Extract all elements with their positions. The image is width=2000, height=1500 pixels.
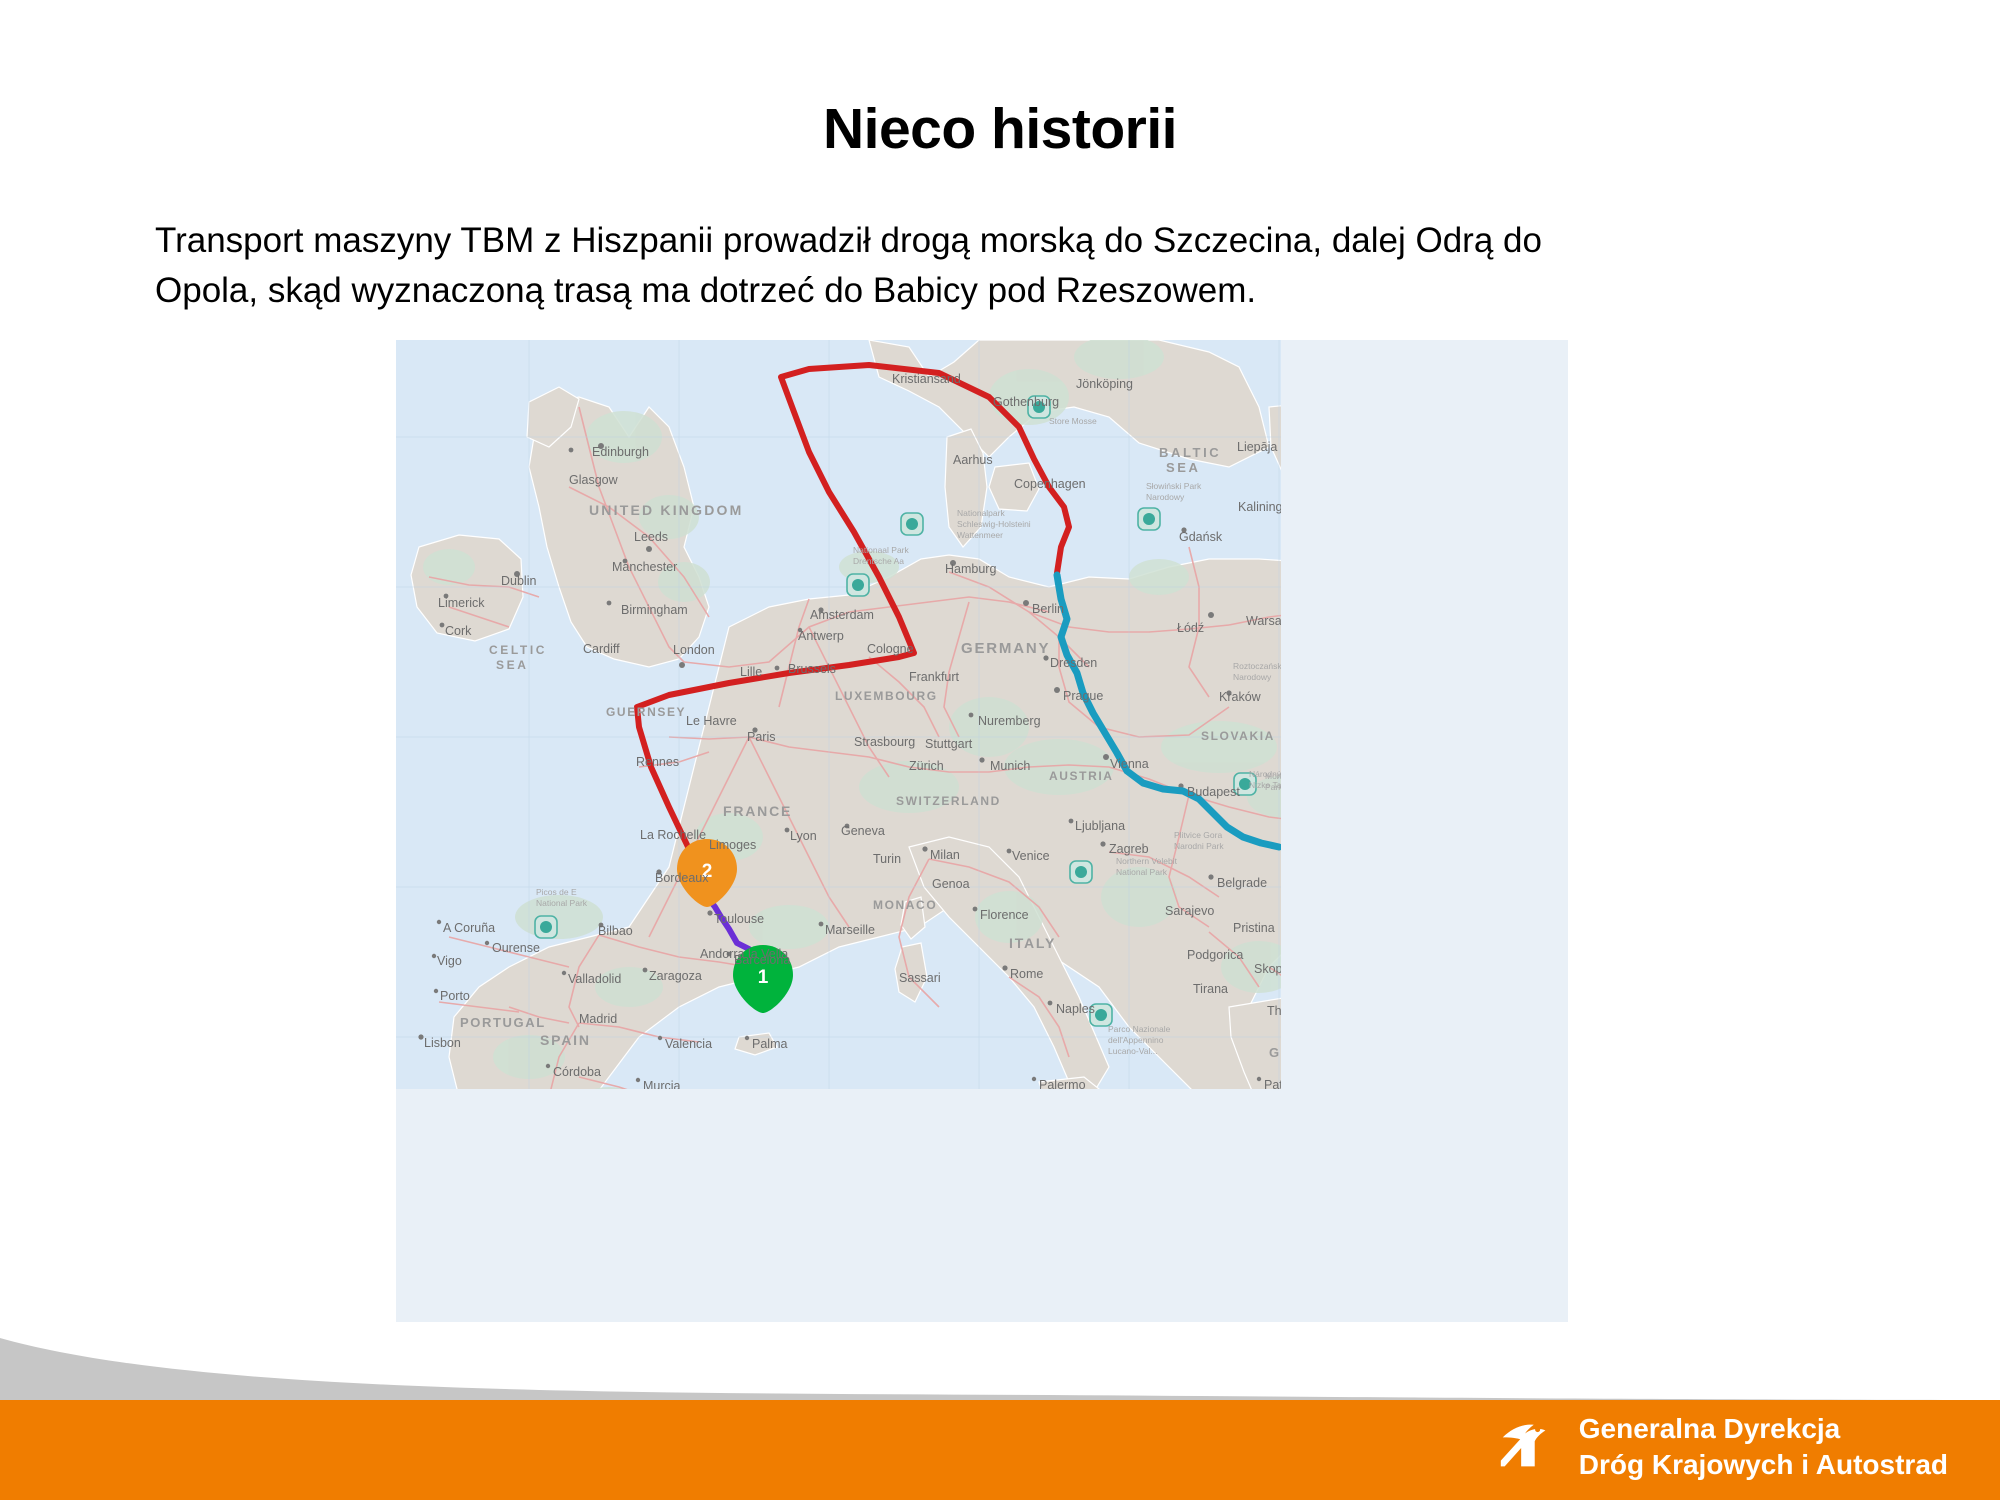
slide-body-text: Transport maszyny TBM z Hiszpanii prowad…	[155, 216, 1765, 315]
presentation-slide: Nieco historii Transport maszyny TBM z H…	[0, 0, 2000, 1500]
map-park-label: dell'Appennino	[1108, 1035, 1164, 1045]
map-city-label: Naples	[1056, 1002, 1095, 1016]
map-city-label: Geneva	[841, 824, 885, 838]
map-city-label: Ljubljana	[1075, 819, 1125, 833]
map-city-label: Lyon	[790, 829, 817, 843]
map-city-label: Lille	[740, 665, 762, 679]
map-park-label: National Park	[1116, 867, 1168, 877]
map-city-label: Podgorica	[1187, 948, 1243, 962]
map-city-label: Barcelona	[734, 953, 790, 967]
map-park-label: Wattenmeer	[957, 530, 1003, 540]
map-country-label: PORTUGAL	[460, 1015, 546, 1030]
logo-text-block: Generalna Dyrekcja Dróg Krajowych i Auto…	[1579, 1411, 1948, 1482]
map-country-label: ITALY	[1009, 935, 1056, 951]
map-park-label: Mortorbidsu N.	[1265, 771, 1321, 781]
map-city-label: Ourense	[492, 941, 540, 955]
map-city-label: Cork	[445, 624, 472, 638]
map-park-label: Plitvice Gora	[1174, 830, 1222, 840]
page-title: Nieco historii	[0, 98, 2000, 161]
map-city-label: Zaragoza	[649, 969, 702, 983]
body-line-2: Opola, skąd wyznaczoną trasą ma dotrzeć …	[155, 266, 1765, 316]
map-city-label: Rennes	[636, 755, 679, 769]
map-city-label: Lv	[1324, 700, 1338, 714]
map-city-label: Valladolid	[568, 972, 621, 986]
logo-line-2: Dróg Krajowych i Autostrad	[1579, 1447, 1948, 1482]
map-city-label: Bordeaux	[655, 871, 709, 885]
map-city-label: Granada	[582, 1108, 631, 1122]
map-city-label: Kristiansand	[892, 372, 961, 386]
map-city-label: La Rochelle	[640, 828, 706, 842]
map-city-label: Sarajevo	[1165, 904, 1214, 918]
map-city-label: Zürich	[909, 759, 944, 773]
map-park-label: Lucano-Val...	[1108, 1046, 1157, 1056]
map-city-label: Paris	[747, 730, 775, 744]
gddkia-eagle-icon	[1495, 1416, 1557, 1478]
map-city-label: Cologne	[867, 642, 914, 656]
map-country-label: GREECE	[1269, 1045, 1334, 1060]
map-park-label: Nationalpark	[957, 508, 1005, 518]
map-country-label: LUXEMBOURG	[835, 689, 938, 703]
map-city-label: Bilbao	[598, 924, 633, 938]
map-city-label: Łódź	[1177, 621, 1204, 635]
map-city-label: Algiers	[760, 1119, 798, 1133]
map-city-label: Sassari	[899, 971, 941, 985]
map-svg: 2 1 UNITED KINGDOMGERMANYFRANCESPAINPORT…	[396, 340, 1568, 1322]
map-city-label: Lisbon	[424, 1036, 461, 1050]
map-city-label: Jönköping	[1076, 377, 1133, 391]
map-city-label: Sofia	[1298, 943, 1327, 957]
map-city-label: Vigo	[437, 954, 462, 968]
map-city-label: Bre	[1319, 618, 1339, 632]
map-city-label: Thessaloniki	[1267, 1004, 1336, 1018]
map-country-label: GUERNSEY	[606, 705, 686, 719]
map-city-label: Valencia	[665, 1037, 712, 1051]
map-city-label: Milan	[930, 848, 960, 862]
map-city-label: Cardiff	[583, 642, 620, 656]
map-city-label: Turin	[873, 852, 901, 866]
map-country-label: SLOVAKIA	[1201, 729, 1275, 743]
map-park-label: Narodowy	[1146, 492, 1185, 502]
map-city-label: Kraków	[1219, 690, 1262, 704]
map-country-label: UNITED KINGDOM	[589, 502, 743, 518]
map-park-label: Picos de E	[536, 887, 577, 897]
map-city-label: Brussels	[788, 662, 836, 676]
map-city-label: Warsaw	[1246, 614, 1292, 628]
map-city-label: Budapest	[1187, 785, 1240, 799]
map-city-label: Cluj-Nap	[1301, 808, 1350, 822]
map-country-label: SWITZERLAND	[896, 794, 1001, 808]
map-park-label: Store Mosse	[1049, 416, 1097, 426]
map-country-label: FRANCE	[723, 803, 792, 819]
map-country-label: SEA	[496, 658, 528, 672]
map-city-label: Gdańsk	[1179, 530, 1223, 544]
map-city-label: London	[673, 643, 715, 657]
map-park-label: Northern Velebit	[1116, 856, 1178, 866]
map-city-label: Leeds	[634, 530, 668, 544]
map-country-label: SEA	[1166, 460, 1201, 475]
map-city-label: Glasgow	[569, 473, 619, 487]
map-city-label: Nuremberg	[978, 714, 1041, 728]
map-city-label: Palermo	[1039, 1078, 1086, 1092]
map-city-label: Toulouse	[714, 912, 764, 926]
map-country-label: BALTIC	[1159, 445, 1221, 460]
map-city-label: Annaba	[885, 1094, 928, 1108]
map-park-label: Drentsche Aa	[853, 556, 904, 566]
map-park-label: Park	[1265, 782, 1283, 792]
marker-1-label: 1	[758, 967, 769, 988]
map-city-label: Antwerp	[798, 629, 844, 643]
map-city-label: Birmingham	[621, 603, 688, 617]
map-city-label: Murcia	[643, 1079, 681, 1093]
map-city-label: Amsterdam	[810, 608, 874, 622]
map-city-label: Catania	[1085, 1100, 1128, 1114]
map-city-label: Belgrade	[1217, 876, 1267, 890]
map-city-label: Pristina	[1233, 921, 1275, 935]
map-city-label: Dresden	[1050, 656, 1097, 670]
map-park-label: National Park	[536, 898, 588, 908]
map-city-label: Tirana	[1193, 982, 1228, 996]
map-city-label: Rome	[1010, 967, 1043, 981]
map-park-label: Nationaal Park	[853, 545, 910, 555]
map-city-label: Porto	[440, 989, 470, 1003]
organization-logo: Generalna Dyrekcja Dróg Krajowych i Auto…	[1495, 1411, 1948, 1482]
map-city-label: Frankfurt	[909, 670, 960, 684]
map-city-label: Prague	[1063, 689, 1103, 703]
footer-brand-bar: Generalna Dyrekcja Dróg Krajowych i Auto…	[0, 1400, 2000, 1500]
map-city-label: Vienna	[1110, 757, 1149, 771]
logo-line-1: Generalna Dyrekcja	[1579, 1411, 1948, 1446]
map-city-label: Hamburg	[945, 562, 996, 576]
map-city-label: Skopje	[1254, 962, 1292, 976]
map-city-label: A Coruña	[443, 921, 495, 935]
map-city-label: Venice	[1012, 849, 1050, 863]
map-city-label: Edinburgh	[592, 445, 649, 459]
map-country-label: CELTIC	[489, 643, 547, 657]
map-city-label: Gothenburg	[993, 395, 1059, 409]
map-park-label: Narodni Park	[1174, 841, 1224, 851]
map-city-label: Gibraltar	[552, 1126, 600, 1140]
map-city-label: Limoges	[709, 838, 756, 852]
body-line-1: Transport maszyny TBM z Hiszpanii prowad…	[155, 216, 1765, 266]
map-park-label: Słowiński Park	[1146, 481, 1202, 491]
route-map-image: 2 1 UNITED KINGDOMGERMANYFRANCESPAINPORT…	[396, 340, 1568, 1322]
map-city-label: Kalamata	[1269, 1114, 1322, 1128]
map-city-label: Kaliningrad	[1238, 500, 1301, 514]
map-country-label: GERMANY	[961, 640, 1050, 657]
map-park-label: Narodowy	[1233, 672, 1272, 682]
map-country-label: SPAIN	[540, 1032, 591, 1048]
map-park-label: Roztoczański Park	[1233, 661, 1304, 671]
map-city-label: Marseille	[825, 923, 875, 937]
map-park-label: Wigry Narod.	[1290, 549, 1340, 559]
map-city-label: Córdoba	[553, 1065, 601, 1079]
footer-gray-swoosh	[0, 1338, 2000, 1400]
map-city-label: Copenhagen	[1014, 477, 1086, 491]
map-city-label: Madrid	[579, 1012, 617, 1026]
map-city-label: Limerick	[438, 596, 485, 610]
map-city-label: Patras	[1264, 1078, 1300, 1092]
map-country-label: AUSTRIA	[1049, 769, 1114, 783]
map-park-label: Parco Nazionale	[1108, 1024, 1171, 1034]
map-country-label: RO	[1324, 822, 1347, 837]
map-city-label: Liepāja	[1237, 440, 1277, 454]
map-city-label: Athens	[1314, 1079, 1353, 1093]
map-park-label: Park	[1297, 560, 1315, 570]
map-country-label: MONACO	[873, 898, 937, 912]
map-city-label: Dublin	[501, 574, 536, 588]
map-city-label: Manchester	[612, 560, 677, 574]
map-city-label: Genoa	[932, 877, 970, 891]
map-city-label: Stuttgart	[925, 737, 973, 751]
map-city-label: Le Havre	[686, 714, 737, 728]
map-city-label: Palma	[752, 1037, 787, 1051]
map-city-label: Berlin	[1032, 602, 1064, 616]
map-city-label: Cádiz	[505, 1126, 537, 1140]
map-city-label: Zagreb	[1109, 842, 1149, 856]
map-city-label: Seville	[519, 1098, 556, 1112]
map-city-label: Munich	[990, 759, 1030, 773]
map-city-label: Tunis	[948, 1120, 978, 1134]
map-city-label: Aarhus	[953, 453, 993, 467]
map-park-label: Schleswig-Holsteini	[957, 519, 1031, 529]
map-city-label: Strasbourg	[854, 735, 915, 749]
map-city-label: Florence	[980, 908, 1029, 922]
